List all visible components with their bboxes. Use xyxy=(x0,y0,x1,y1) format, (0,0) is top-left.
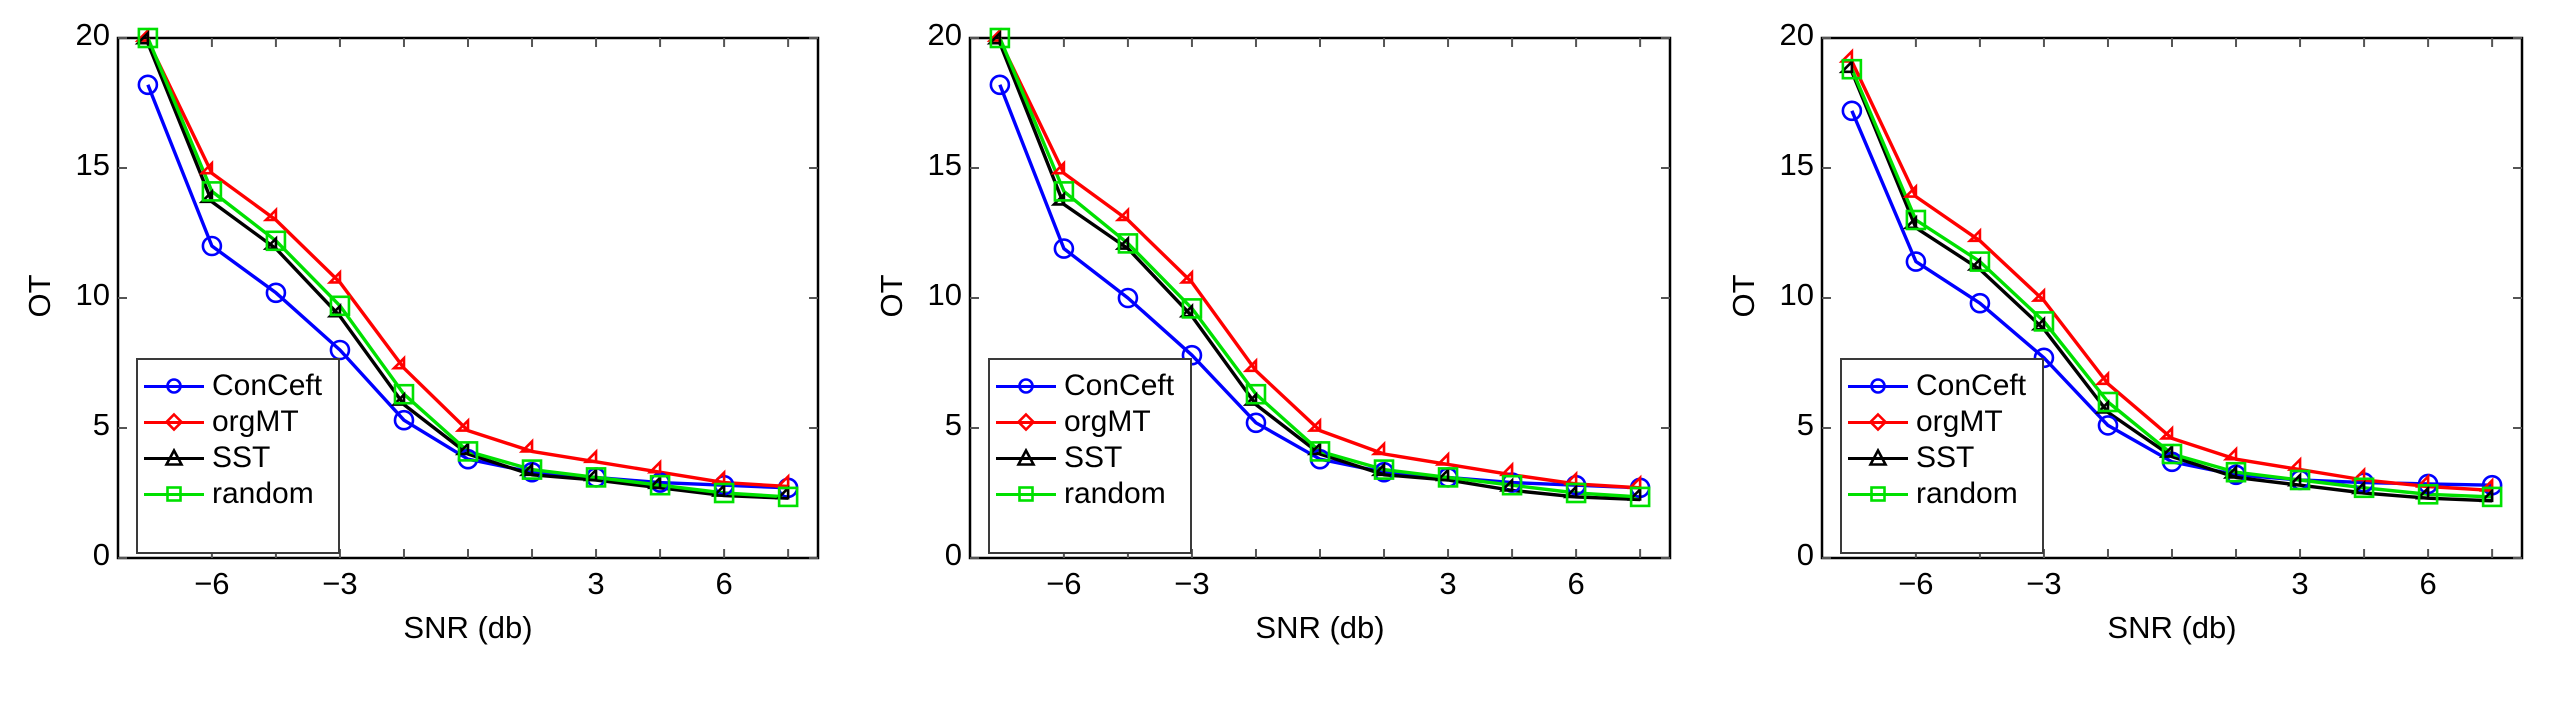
legend-sample xyxy=(144,484,204,504)
triangle-marker xyxy=(1019,451,1034,465)
square-marker xyxy=(168,488,181,501)
legend-circle-marker xyxy=(1016,376,1036,396)
legend-label: orgMT xyxy=(1064,407,1151,437)
y-axis-label: OT xyxy=(22,246,58,346)
legend-label: ConCeft xyxy=(212,371,322,401)
triangle-marker xyxy=(167,451,182,465)
x-tick-label: 6 xyxy=(684,566,764,602)
y-tick-label: 10 xyxy=(76,277,110,313)
legend-item-sst[interactable]: SST xyxy=(138,440,338,476)
legend-sample xyxy=(1848,448,1908,468)
legend-label: SST xyxy=(1916,443,1974,473)
legend-sample xyxy=(144,376,204,396)
y-tick-label: 5 xyxy=(1797,407,1814,443)
legend-sample xyxy=(1848,412,1908,432)
legend-sample xyxy=(996,484,1056,504)
legend-triangle-marker xyxy=(1016,448,1036,468)
chart-legend: ConCeftorgMTSSTrandom xyxy=(136,358,340,554)
x-axis-label: SNR (db) xyxy=(970,610,1670,646)
chart-panel-1: 05101520−6−336SNR (db)OTConCeftorgMTSSTr… xyxy=(0,0,852,706)
x-tick-label: 3 xyxy=(2260,566,2340,602)
legend-item-conceft[interactable]: ConCeft xyxy=(990,368,1190,404)
square-marker xyxy=(1872,488,1885,501)
x-tick-label: 3 xyxy=(556,566,636,602)
legend-circle-marker xyxy=(1868,376,1888,396)
legend-diamond-marker xyxy=(1016,412,1036,432)
y-tick-label: 15 xyxy=(928,147,962,183)
legend-label: SST xyxy=(212,443,270,473)
legend-square-marker xyxy=(1016,484,1036,504)
circle-marker xyxy=(1872,380,1885,393)
chart-panel-3: 05101520−6−336SNR (db)OTConCeftorgMTSSTr… xyxy=(1704,0,2556,706)
legend-label: orgMT xyxy=(212,407,299,437)
legend-sample xyxy=(144,412,204,432)
chart-panel-2: 05101520−6−336SNR (db)OTConCeftorgMTSSTr… xyxy=(852,0,1704,706)
y-tick-label: 0 xyxy=(1797,537,1814,573)
y-tick-label: 5 xyxy=(945,407,962,443)
y-tick-label: 20 xyxy=(928,17,962,53)
y-tick-label: 20 xyxy=(1780,17,1814,53)
y-axis-label: OT xyxy=(874,246,910,346)
y-tick-label: 15 xyxy=(1780,147,1814,183)
triangle-marker xyxy=(1871,451,1886,465)
legend-label: random xyxy=(1916,479,2018,509)
chart-legend: ConCeftorgMTSSTrandom xyxy=(988,358,1192,554)
legend-sample xyxy=(1848,484,1908,504)
x-tick-label: −3 xyxy=(2004,566,2084,602)
legend-item-conceft[interactable]: ConCeft xyxy=(1842,368,2042,404)
x-tick-label: −3 xyxy=(1152,566,1232,602)
x-tick-label: −3 xyxy=(300,566,380,602)
legend-item-random[interactable]: random xyxy=(990,476,1190,512)
x-tick-label: 6 xyxy=(2388,566,2468,602)
legend-label: orgMT xyxy=(1916,407,2003,437)
x-tick-label: 6 xyxy=(1536,566,1616,602)
y-tick-label: 0 xyxy=(93,537,110,573)
legend-sample xyxy=(1848,376,1908,396)
legend-sample xyxy=(996,448,1056,468)
y-tick-label: 20 xyxy=(76,17,110,53)
diamond-marker xyxy=(167,415,182,430)
y-tick-label: 10 xyxy=(928,277,962,313)
legend-sample xyxy=(996,376,1056,396)
square-marker xyxy=(1020,488,1033,501)
legend-label: random xyxy=(1064,479,1166,509)
legend-square-marker xyxy=(164,484,184,504)
legend-label: ConCeft xyxy=(1916,371,2026,401)
legend-sample xyxy=(996,412,1056,432)
diamond-marker xyxy=(1871,415,1886,430)
circle-marker xyxy=(168,380,181,393)
legend-item-conceft[interactable]: ConCeft xyxy=(138,368,338,404)
legend-label: ConCeft xyxy=(1064,371,1174,401)
x-axis-label: SNR (db) xyxy=(118,610,818,646)
x-tick-label: −6 xyxy=(1876,566,1956,602)
y-tick-label: 5 xyxy=(93,407,110,443)
legend-label: SST xyxy=(1064,443,1122,473)
x-tick-label: −6 xyxy=(1024,566,1104,602)
x-axis-label: SNR (db) xyxy=(1822,610,2522,646)
legend-item-sst[interactable]: SST xyxy=(990,440,1190,476)
legend-item-random[interactable]: random xyxy=(1842,476,2042,512)
legend-item-orgmt[interactable]: orgMT xyxy=(1842,404,2042,440)
x-tick-label: 3 xyxy=(1408,566,1488,602)
legend-diamond-marker xyxy=(164,412,184,432)
x-tick-label: −6 xyxy=(172,566,252,602)
circle-marker xyxy=(1020,380,1033,393)
legend-square-marker xyxy=(1868,484,1888,504)
legend-triangle-marker xyxy=(164,448,184,468)
legend-label: random xyxy=(212,479,314,509)
legend-item-sst[interactable]: SST xyxy=(1842,440,2042,476)
legend-triangle-marker xyxy=(1868,448,1888,468)
legend-sample xyxy=(144,448,204,468)
diamond-marker xyxy=(1019,415,1034,430)
y-tick-label: 10 xyxy=(1780,277,1814,313)
legend-item-orgmt[interactable]: orgMT xyxy=(138,404,338,440)
chart-legend: ConCeftorgMTSSTrandom xyxy=(1840,358,2044,554)
multi-panel-line-chart-figure: 05101520−6−336SNR (db)OTConCeftorgMTSSTr… xyxy=(0,0,2556,706)
legend-item-random[interactable]: random xyxy=(138,476,338,512)
y-tick-label: 0 xyxy=(945,537,962,573)
legend-item-orgmt[interactable]: orgMT xyxy=(990,404,1190,440)
y-tick-label: 15 xyxy=(76,147,110,183)
legend-circle-marker xyxy=(164,376,184,396)
legend-diamond-marker xyxy=(1868,412,1888,432)
y-axis-label: OT xyxy=(1726,246,1762,346)
